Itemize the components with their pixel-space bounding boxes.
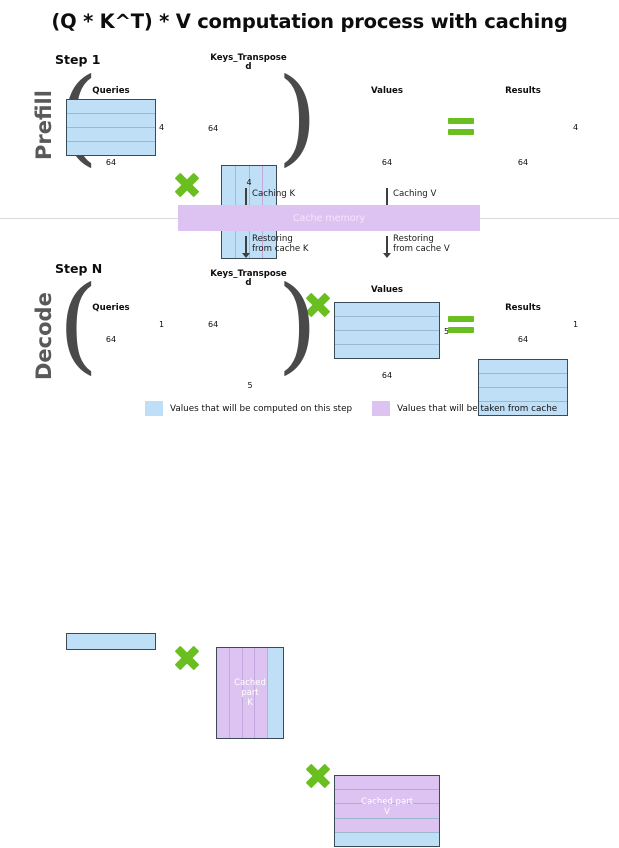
matrix-keys-transposed-decode: Cached part K	[216, 647, 284, 739]
matrix-cell	[479, 387, 567, 401]
matrix-cell	[335, 344, 439, 358]
matrix-caption-queries-decode: Queries	[66, 303, 156, 313]
matrix-cell	[67, 113, 155, 127]
dim-width-results-decode: 64	[478, 335, 568, 344]
matrix-cell	[67, 634, 155, 649]
matrix-caption-results-prefill: Results	[478, 86, 568, 96]
caption-line-2: d	[196, 279, 301, 288]
matrix-caption-values-prefill: Values	[334, 86, 440, 96]
caption-line-2: d	[196, 63, 301, 72]
dim-height-keys-prefill: 64	[208, 124, 218, 133]
dim-height-results-prefill: 4	[573, 123, 578, 132]
legend-item-cached: Values that will be taken from cache	[372, 401, 557, 416]
operator-multiply-icon	[174, 645, 200, 671]
operator-equals-icon	[448, 118, 474, 136]
dim-height-queries-decode: 1	[159, 320, 164, 329]
matrix-cell	[479, 373, 567, 387]
arrow-label-restoring-v: Restoring from cache V	[393, 235, 450, 254]
arrow-label-caching-v: Caching V	[393, 190, 436, 200]
dim-width-results-prefill: 64	[478, 158, 568, 167]
arrow-label-caching-k: Caching K	[252, 190, 295, 200]
arrow-restoring-v	[382, 236, 392, 258]
matrix-cell-cached	[335, 818, 439, 832]
legend-label-computed: Values that will be computed on this ste…	[170, 404, 352, 414]
diagram-canvas: (Q * K^T) * V computation process with c…	[0, 0, 619, 424]
dim-height-queries-prefill: 4	[159, 123, 164, 132]
row-label-decode: Decode	[32, 292, 56, 380]
matrix-queries-decode	[66, 633, 156, 650]
matrix-cell	[479, 360, 567, 373]
dim-width-keys-decode: 5	[216, 381, 284, 390]
matrix-cell	[335, 330, 439, 344]
group-paren-close-prefill: )	[277, 64, 318, 168]
dim-height-keys-decode: 64	[208, 320, 218, 329]
matrix-cell-cached	[335, 803, 439, 817]
dim-width-keys-prefill: 4	[221, 178, 277, 187]
matrix-cell	[335, 316, 439, 330]
matrix-cell-cached	[335, 776, 439, 789]
legend-item-computed: Values that will be computed on this ste…	[145, 401, 352, 416]
arrow-label-restoring-k: Restoring from cache K	[252, 235, 309, 254]
dim-width-values-prefill: 64	[334, 158, 440, 167]
operator-multiply-icon	[305, 763, 331, 789]
operator-equals-icon	[448, 316, 474, 334]
matrix-cell	[335, 832, 439, 846]
matrix-cell	[67, 100, 155, 113]
matrix-caption-keys-prefill: Keys_Transpose d	[196, 54, 301, 72]
matrix-values-decode: Cached part V	[334, 775, 440, 847]
matrix-caption-values-decode: Values	[334, 285, 440, 295]
legend-swatch-blue	[145, 401, 163, 416]
cache-memory-label: Cache memory	[293, 213, 365, 224]
cache-memory-bar: Cache memory	[178, 205, 480, 231]
page-title: (Q * K^T) * V computation process with c…	[0, 10, 619, 33]
matrix-cell	[67, 127, 155, 141]
matrix-caption-queries-prefill: Queries	[66, 86, 156, 96]
matrix-cell	[267, 648, 283, 738]
arrow-restoring-k	[241, 236, 251, 258]
group-paren-open-decode: (	[58, 272, 99, 376]
legend: Values that will be computed on this ste…	[145, 401, 557, 416]
matrix-queries-prefill	[66, 99, 156, 156]
legend-label-cached: Values that will be taken from cache	[397, 404, 557, 414]
matrix-cell-cached	[217, 648, 229, 738]
matrix-cell-cached	[242, 648, 255, 738]
matrix-cell-cached	[229, 648, 242, 738]
dim-width-queries-prefill: 64	[66, 158, 156, 167]
matrix-caption-keys-decode: Keys_Transpose d	[196, 270, 301, 288]
matrix-cell	[67, 141, 155, 155]
row-label-prefill: Prefill	[32, 90, 56, 160]
operator-multiply-icon	[174, 172, 200, 198]
matrix-values-prefill	[334, 302, 440, 359]
legend-swatch-purple	[372, 401, 390, 416]
matrix-cell	[335, 303, 439, 316]
matrix-cell-cached	[335, 789, 439, 803]
matrix-caption-results-decode: Results	[478, 303, 568, 313]
dim-width-values-decode: 64	[334, 371, 440, 380]
dim-width-queries-decode: 64	[66, 335, 156, 344]
matrix-cell-cached	[254, 648, 267, 738]
dim-height-results-decode: 1	[573, 320, 578, 329]
